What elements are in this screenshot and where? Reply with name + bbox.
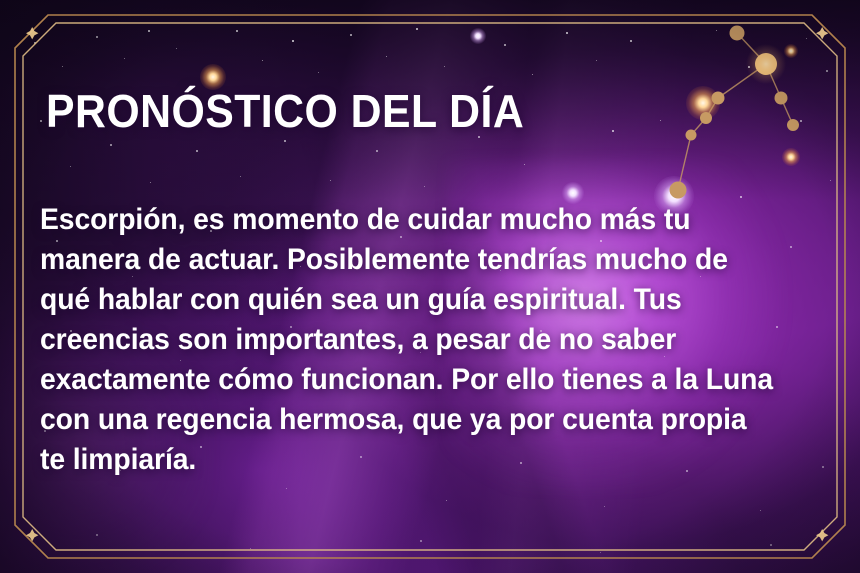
forecast-line: qué hablar con quién sea un guía espirit… xyxy=(40,280,770,320)
forecast-line: creencias son importantes, a pesar de no… xyxy=(40,320,770,360)
forecast-line: con una regencia hermosa, que ya por cue… xyxy=(40,400,770,440)
page-title: PRONÓSTICO DEL DÍA xyxy=(46,88,524,134)
forecast-line: manera de actuar. Posiblemente tendrías … xyxy=(40,240,770,280)
forecast-line: te limpiaría. xyxy=(40,440,770,480)
forecast-body-text: Escorpión, es momento de cuidar mucho má… xyxy=(40,200,770,480)
forecast-line: exactamente cómo funcionan. Por ello tie… xyxy=(40,360,770,400)
forecast-line: Escorpión, es momento de cuidar mucho má… xyxy=(40,200,770,240)
horoscope-card: PRONÓSTICO DEL DÍA Escorpión, es momento… xyxy=(0,0,860,573)
